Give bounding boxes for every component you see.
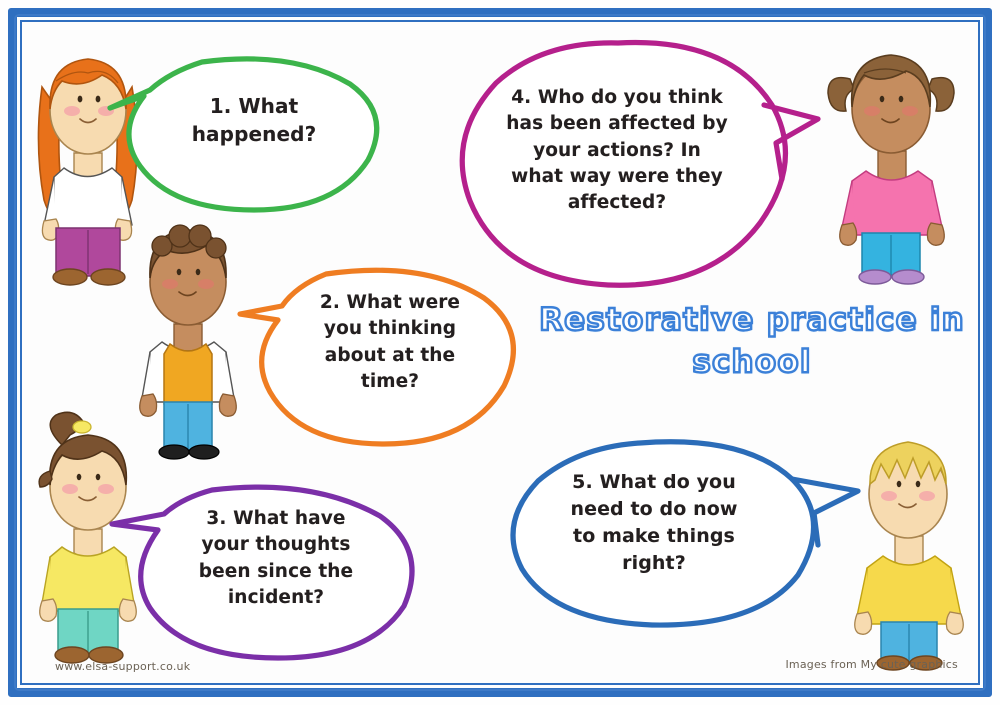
character-pigtail-girl	[820, 27, 960, 282]
poster-title-line-2: school	[522, 342, 978, 384]
speech-bubble-3-text: 3. What have your thoughts been since th…	[160, 506, 392, 611]
speech-bubble-1[interactable]: 1. What happened?	[102, 44, 402, 224]
footer-credit: Images from My cute graphics	[785, 658, 958, 671]
speech-bubble-5[interactable]: 5. What do you need to do now to make th…	[492, 427, 862, 637]
speech-bubble-2-text: 2. What were you thinking about at the t…	[278, 290, 502, 395]
poster-content-area: 1. What happened? 2. What were you think…	[22, 22, 978, 683]
poster-canvas: 1. What happened? 2. What were you think…	[0, 0, 1000, 705]
speech-bubble-4-text: 4. Who do you think has been affected by…	[492, 85, 742, 216]
footer-website[interactable]: www.elsa-support.co.uk	[55, 660, 190, 673]
speech-bubble-1-text: 1. What happened?	[150, 92, 358, 149]
poster-title-line-1: Restorative practice in	[522, 300, 978, 342]
speech-bubble-5-text: 5. What do you need to do now to make th…	[534, 469, 774, 577]
speech-bubble-3[interactable]: 3. What have your thoughts been since th…	[102, 472, 442, 667]
speech-bubble-4[interactable]: 4. Who do you think has been affected by…	[442, 27, 822, 302]
poster-title: Restorative practice in school	[522, 300, 978, 384]
